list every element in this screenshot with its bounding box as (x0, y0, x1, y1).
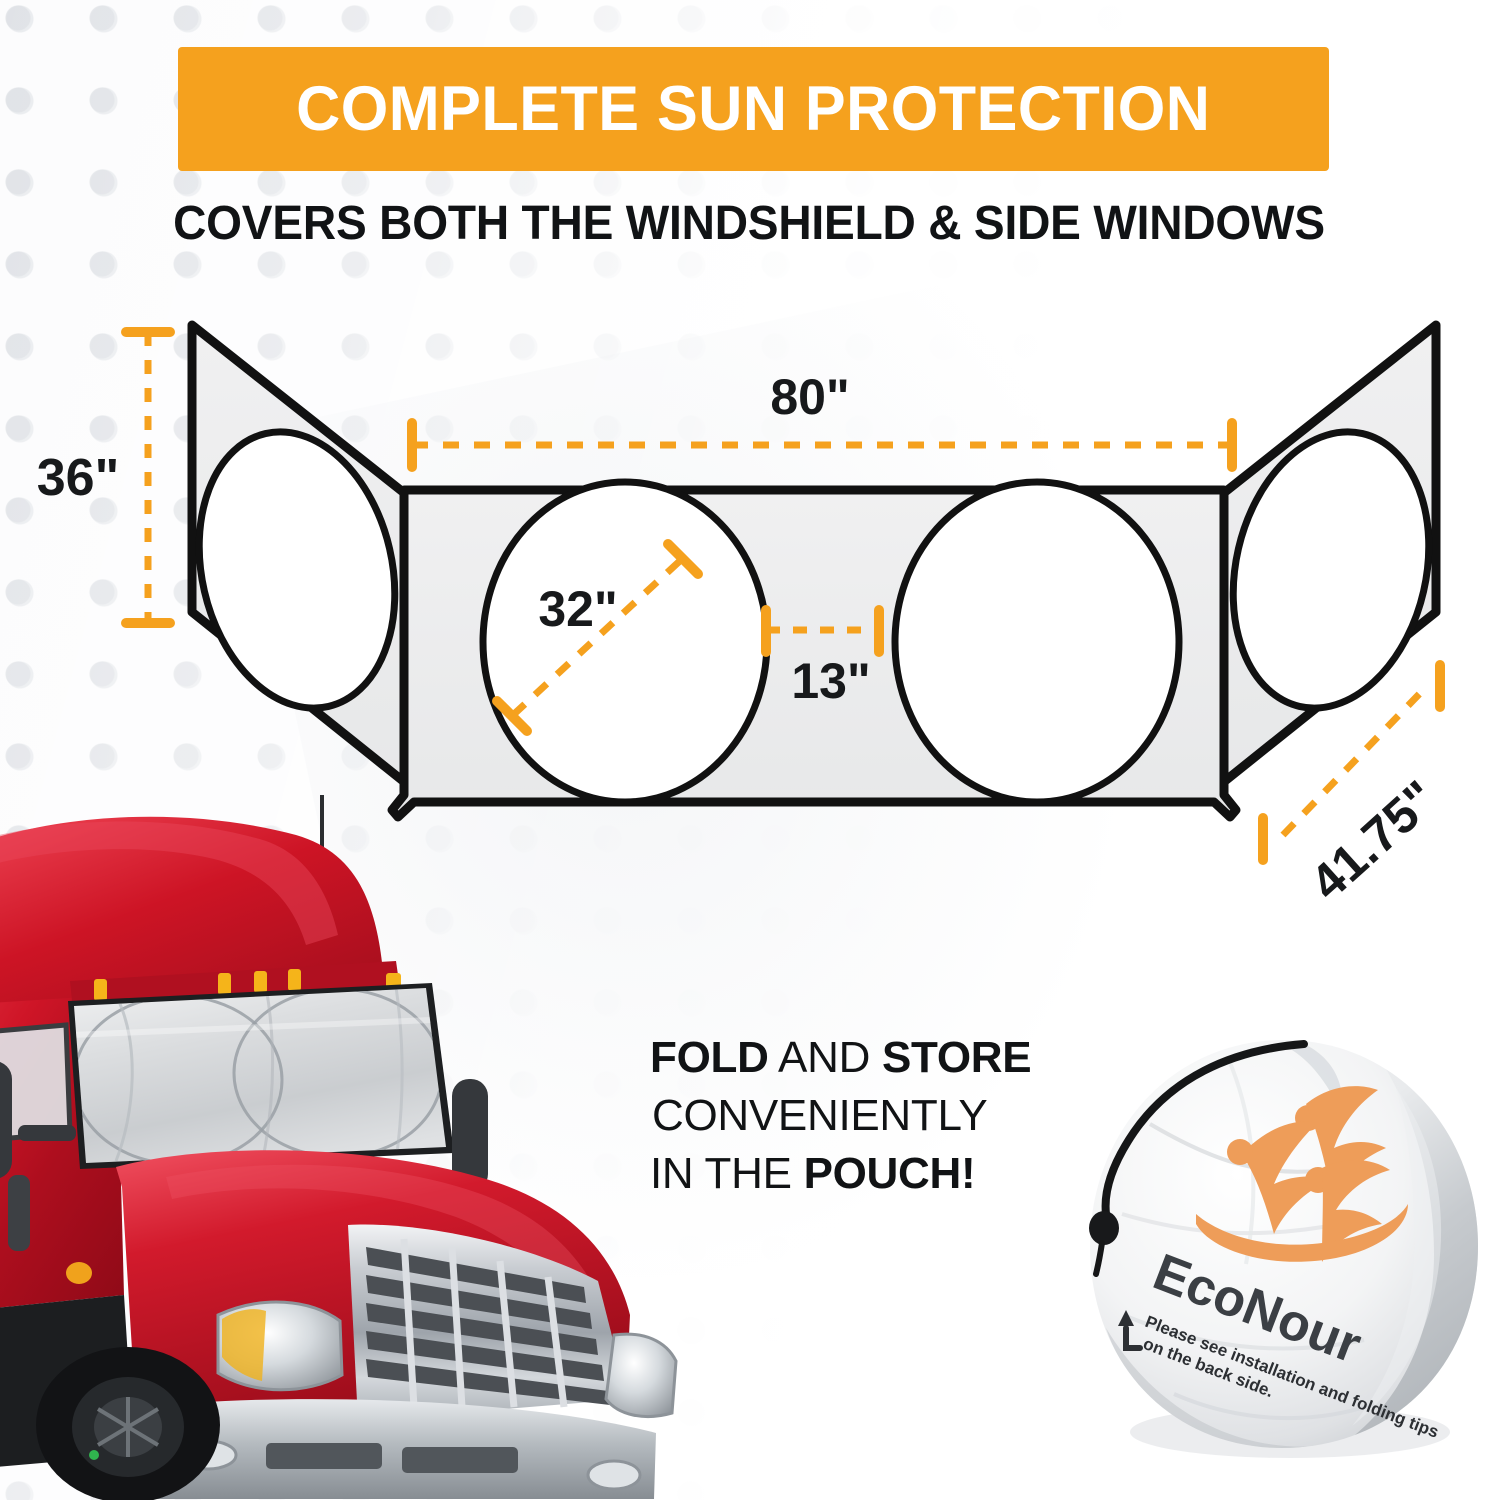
truck-fog-light-right (588, 1461, 640, 1489)
fold-store-store: STORE (882, 1033, 1031, 1082)
dimension-label-32: 32" (538, 581, 617, 637)
header-banner: COMPLETE SUN PROTECTION (178, 47, 1329, 171)
shade-right-wing (1207, 325, 1455, 785)
pouch-photo: EcoNour Please see installation and fold… (1078, 1028, 1490, 1460)
windshield-circle-left (483, 482, 767, 802)
truck-windshield-with-sunshade (66, 980, 466, 1180)
truck-fender-light (66, 1262, 92, 1284)
fold-store-and: AND (769, 1033, 882, 1082)
header-subtitle: COVERS BOTH THE WINDSHIELD & SIDE WINDOW… (30, 196, 1468, 251)
truck-photo (0, 795, 686, 1500)
pouch-cord-lock (1089, 1211, 1119, 1245)
page-title: COMPLETE SUN PROTECTION (296, 73, 1210, 145)
fold-store-line-3: IN THE POUCH! (650, 1148, 1096, 1200)
dimension-width-80: 80" (412, 369, 1232, 467)
dimension-height-36: 36" (37, 332, 170, 623)
fold-and-store-copy: FOLD AND STORE CONVENIENTLY IN THE POUCH… (636, 1032, 1096, 1200)
dimension-label-36: 36" (37, 449, 120, 507)
shade-center-panel (392, 482, 1236, 817)
truck-headlight-right (606, 1334, 676, 1416)
dimension-label-13: 13" (791, 653, 870, 709)
fold-store-in-the: IN THE (650, 1149, 804, 1198)
windshield-circle-right (895, 482, 1179, 802)
truck-front-wheel (36, 1347, 220, 1500)
fold-store-pouch: POUCH! (804, 1149, 976, 1198)
shade-left-wing (173, 325, 421, 785)
dimension-label-80: 80" (770, 369, 849, 425)
fold-store-line-2: CONVENIENTLY (652, 1090, 1096, 1142)
fold-store-line-1: FOLD AND STORE (650, 1032, 1096, 1084)
fold-store-conveniently: CONVENIENTLY (652, 1091, 987, 1140)
fold-store-fold: FOLD (650, 1033, 769, 1082)
dimension-label-41-75: 41.75" (1300, 770, 1448, 910)
